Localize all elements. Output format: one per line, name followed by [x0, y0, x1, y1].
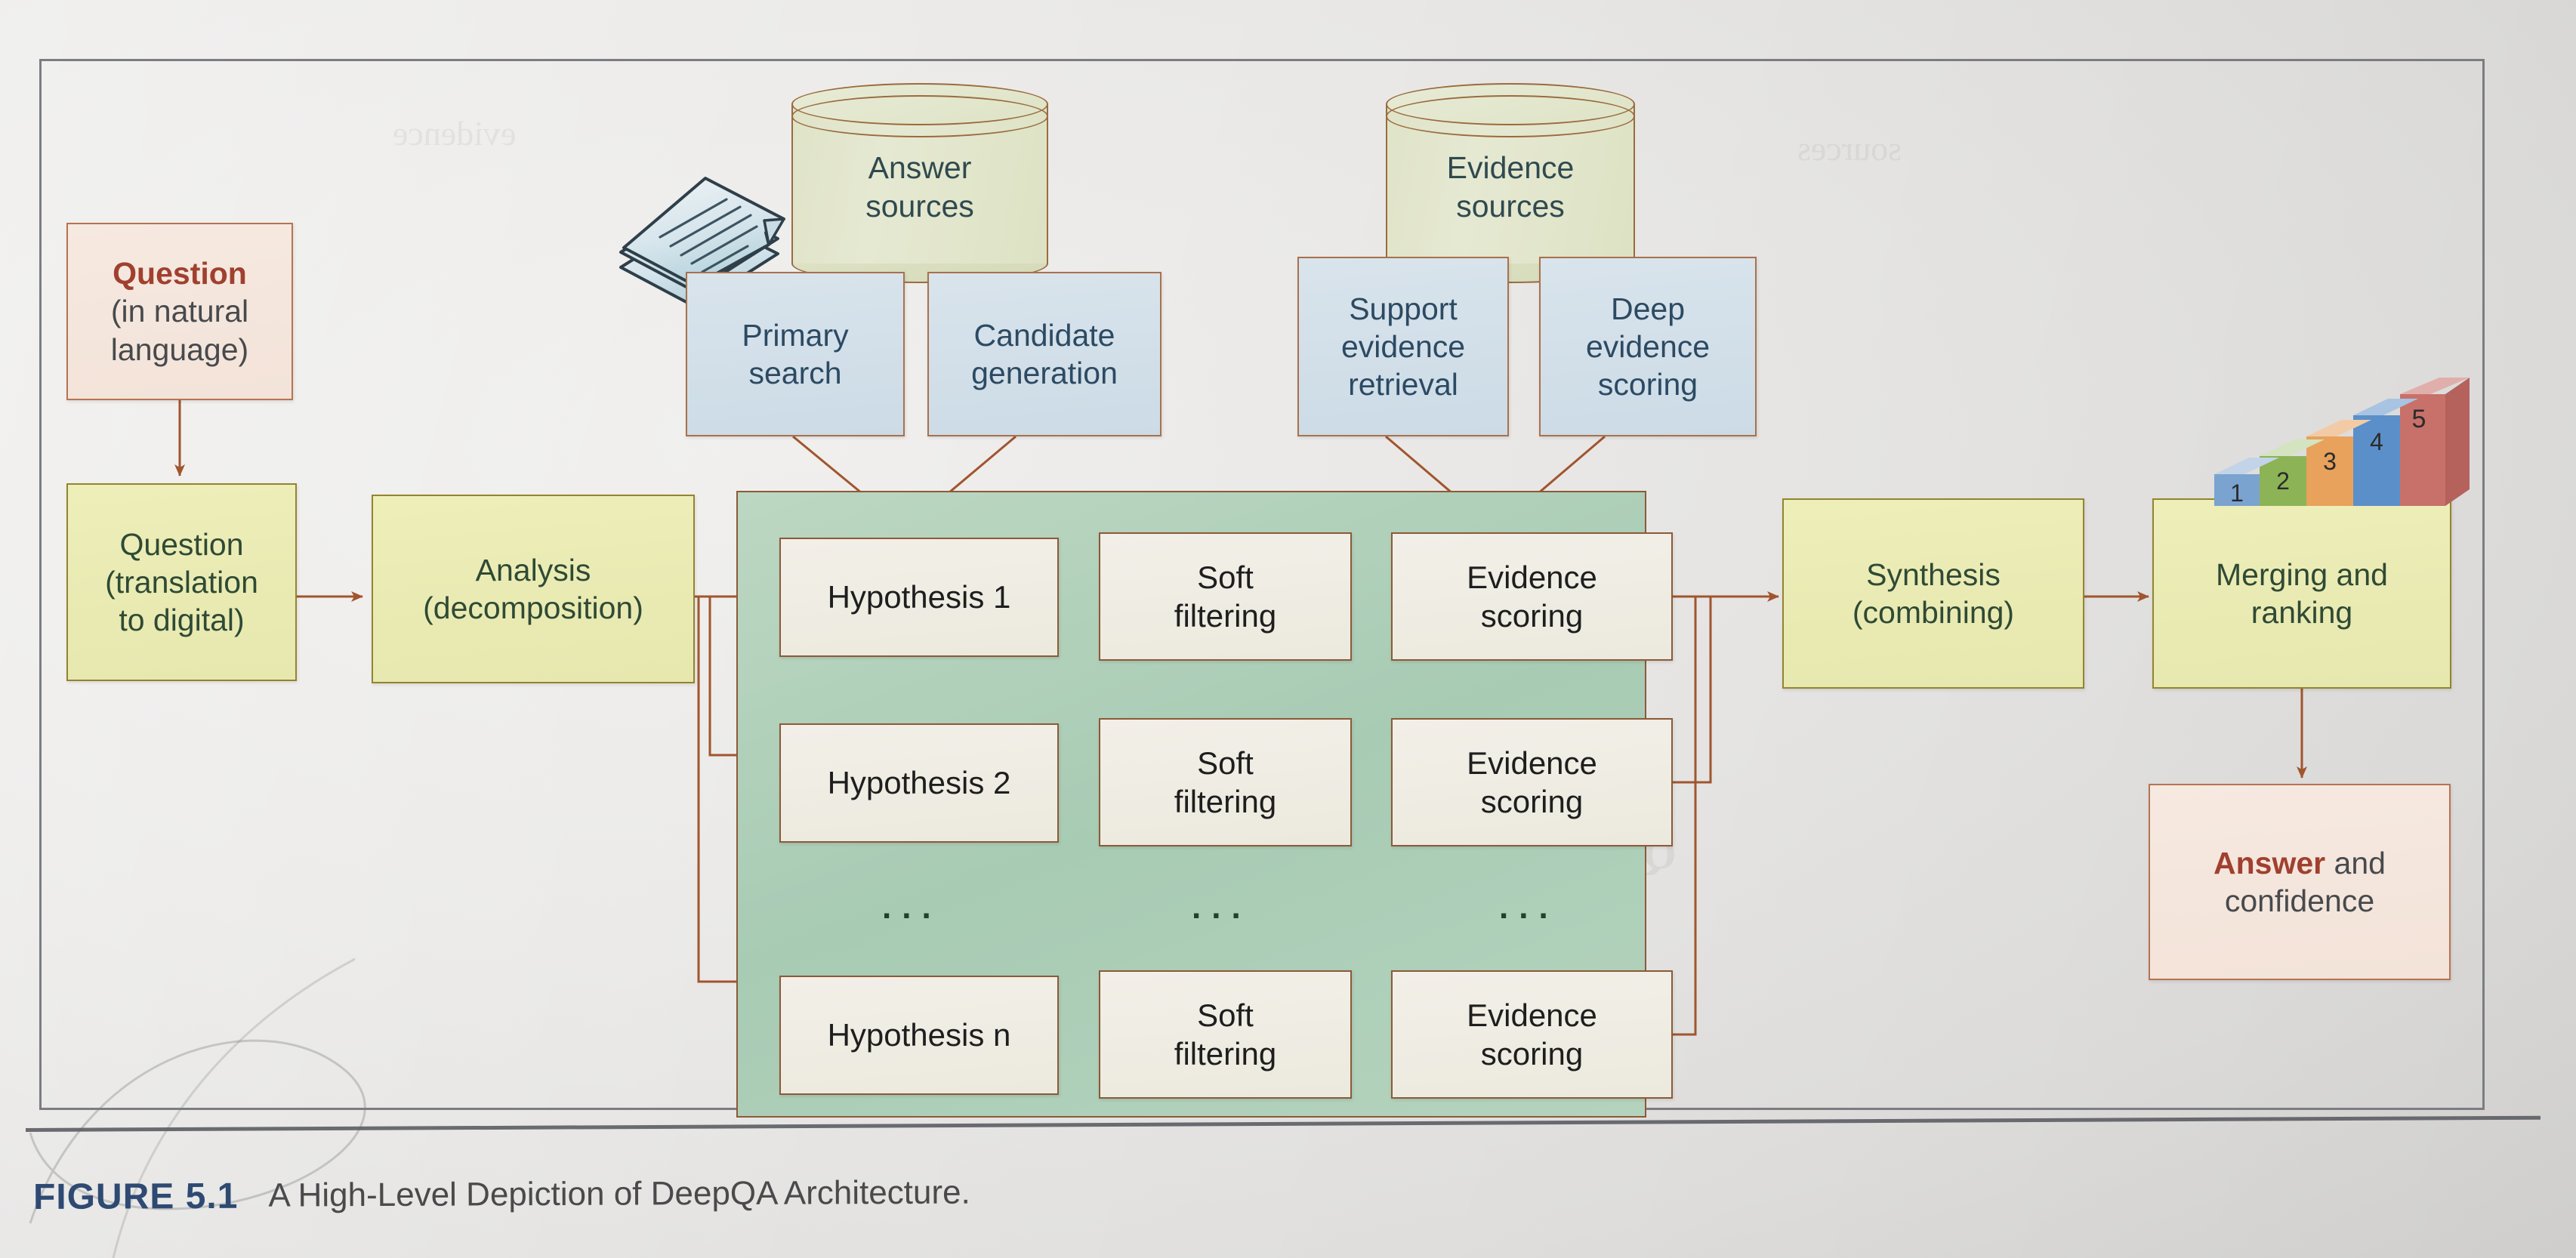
node-primary-search[interactable]: Primary search [686, 272, 905, 436]
node-hypothesis-2[interactable]: Hypothesis 2 [779, 723, 1059, 843]
primary-search-line1: Primary [742, 316, 848, 354]
figure-label: FIGURE 5.1 [33, 1175, 239, 1217]
hypothesis-1-label: Hypothesis 1 [828, 578, 1011, 616]
ellipsis-filtering: ... [1192, 891, 1251, 924]
soft-filtering-2-line1: Soft [1197, 744, 1254, 782]
synthesis-line2: (combining) [1853, 594, 2014, 631]
merging-ranking-line1: Merging and [2216, 556, 2388, 594]
analysis-line1: Analysis [476, 551, 591, 589]
node-answer-and-confidence[interactable]: Answer and confidence [2149, 784, 2451, 980]
cylinder-answer-sources[interactable]: Answer sources [791, 83, 1048, 283]
primary-search-line2: search [748, 354, 841, 392]
ellipsis-hypothesis: ... [882, 891, 942, 924]
merging-ranking-line2: ranking [2251, 594, 2352, 631]
soft-filtering-1-line1: Soft [1197, 558, 1254, 597]
candidate-generation-line1: Candidate [974, 316, 1115, 354]
evidence-scoring-2-line2: scoring [1481, 782, 1583, 821]
hypothesis-2-label: Hypothesis 2 [828, 763, 1011, 802]
soft-filtering-1-line2: filtering [1174, 597, 1276, 635]
hypothesis-n-label: Hypothesis n [828, 1016, 1011, 1054]
node-evidence-scoring-1[interactable]: Evidence scoring [1391, 532, 1673, 661]
support-evidence-line1: Support [1349, 290, 1458, 328]
answer-confidence-rest: and [2325, 846, 2386, 880]
node-candidate-generation[interactable]: Candidate generation [927, 272, 1162, 436]
ranking-bar-chart: 5 4 3 2 1 [2190, 378, 2470, 521]
node-soft-filtering-n[interactable]: Soft filtering [1099, 970, 1352, 1099]
soft-filtering-2-line2: filtering [1174, 782, 1276, 821]
support-evidence-line2: evidence [1341, 328, 1465, 365]
question-digital-line2: (translation [105, 563, 258, 601]
evidence-scoring-1-line2: scoring [1481, 597, 1583, 635]
answer-sources-line2: sources [791, 187, 1048, 226]
svg-text:5: 5 [2412, 405, 2426, 433]
node-question-natural-language[interactable]: Question (in natural language) [66, 223, 293, 400]
support-evidence-line3: retrieval [1348, 365, 1458, 403]
question-nl-accent: Question [113, 254, 247, 292]
answer-sources-line1: Answer [791, 148, 1048, 187]
answer-sources-lip [791, 95, 1048, 137]
node-deep-evidence-scoring[interactable]: Deep evidence scoring [1539, 257, 1757, 436]
node-hypothesis-n[interactable]: Hypothesis n [779, 976, 1059, 1095]
evidence-sources-lip [1386, 95, 1635, 137]
svg-text:3: 3 [2323, 448, 2337, 475]
analysis-line2: (decomposition) [423, 589, 643, 627]
evidence-sources-line1: Evidence [1386, 148, 1635, 187]
svg-text:1: 1 [2230, 479, 2244, 507]
node-hypothesis-1[interactable]: Hypothesis 1 [779, 538, 1059, 657]
evidence-scoring-2-line1: Evidence [1467, 744, 1597, 782]
node-evidence-scoring-2[interactable]: Evidence scoring [1391, 718, 1673, 846]
question-nl-line3: language) [111, 331, 248, 368]
answer-confidence-line1: Answer and [2214, 844, 2386, 882]
figure-caption-text: A High-Level Depiction of DeepQA Archite… [268, 1174, 970, 1215]
node-merging-and-ranking[interactable]: Merging and ranking [2152, 498, 2451, 689]
evidence-scoring-1-line1: Evidence [1467, 558, 1597, 597]
answer-accent: Answer [2214, 846, 2325, 880]
node-question-translation-to-digital[interactable]: Question (translation to digital) [66, 483, 297, 681]
ellipsis-scoring: ... [1499, 891, 1559, 924]
evidence-scoring-n-line1: Evidence [1467, 996, 1597, 1034]
deep-evidence-line1: Deep [1611, 290, 1685, 328]
node-soft-filtering-2[interactable]: Soft filtering [1099, 718, 1352, 846]
svg-text:2: 2 [2276, 467, 2290, 495]
deep-evidence-line3: scoring [1598, 365, 1698, 403]
node-analysis-decomposition[interactable]: Analysis (decomposition) [372, 495, 695, 683]
node-evidence-scoring-n[interactable]: Evidence scoring [1391, 970, 1673, 1099]
question-digital-line1: Question [119, 526, 243, 563]
figure-caption: FIGURE 5.1 A High-Level Depiction of Dee… [33, 1156, 1544, 1231]
question-digital-line3: to digital) [119, 601, 244, 639]
soft-filtering-n-line1: Soft [1197, 996, 1254, 1034]
candidate-generation-line2: generation [971, 354, 1118, 392]
answer-sources-label: Answer sources [791, 148, 1048, 226]
synthesis-line1: Synthesis [1866, 556, 2001, 594]
question-nl-line2: (in natural [111, 292, 248, 330]
svg-text:4: 4 [2370, 428, 2383, 455]
evidence-sources-line2: sources [1386, 187, 1635, 226]
node-synthesis-combining[interactable]: Synthesis (combining) [1782, 498, 2084, 689]
evidence-scoring-n-line2: scoring [1481, 1034, 1583, 1073]
answer-confidence-line2: confidence [2225, 882, 2374, 920]
node-support-evidence-retrieval[interactable]: Support evidence retrieval [1297, 257, 1509, 436]
evidence-sources-label: Evidence sources [1386, 148, 1635, 226]
cylinder-evidence-sources[interactable]: Evidence sources [1386, 83, 1635, 283]
soft-filtering-n-line2: filtering [1174, 1034, 1276, 1073]
deep-evidence-line2: evidence [1586, 328, 1710, 365]
node-soft-filtering-1[interactable]: Soft filtering [1099, 532, 1352, 661]
